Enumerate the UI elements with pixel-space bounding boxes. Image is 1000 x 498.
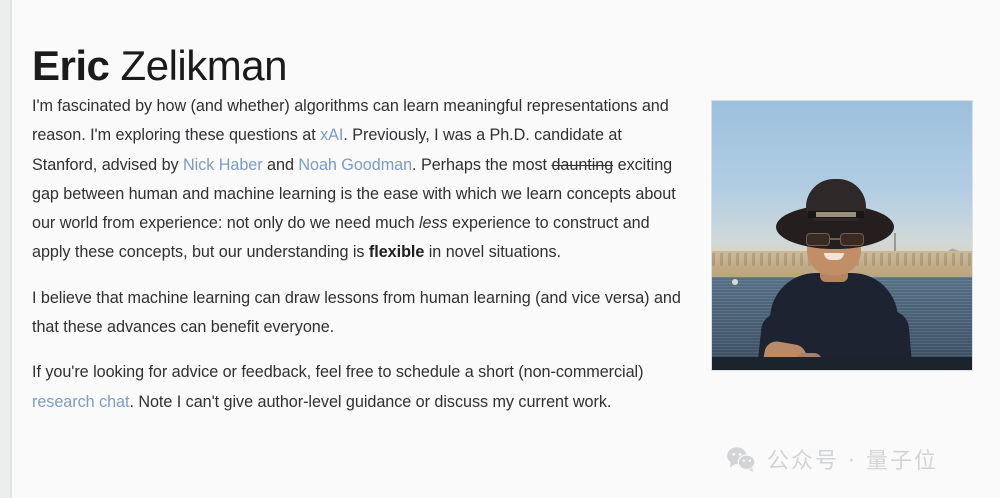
link-xai[interactable]: xAI bbox=[320, 126, 343, 144]
bio-paragraph-1: I'm fascinated by how (and whether) algo… bbox=[32, 92, 687, 268]
person-sunglasses bbox=[806, 233, 864, 246]
p2-text-1: I believe that machine learning can draw… bbox=[32, 289, 681, 336]
watermark-text: 公众号 · 量子位 bbox=[767, 443, 938, 475]
bio-paragraph-3: If you're looking for advice or feedback… bbox=[32, 358, 687, 417]
profile-photo bbox=[712, 101, 972, 370]
page-left-edge bbox=[10, 0, 12, 498]
sunglasses-bridge bbox=[830, 238, 840, 240]
photo-person bbox=[712, 101, 972, 370]
p1-text-4: . Perhaps the most bbox=[412, 156, 551, 174]
page-title-first-name: Eric bbox=[32, 42, 109, 89]
profile-photo-image bbox=[712, 101, 972, 370]
p1-italic-less: less bbox=[419, 214, 448, 232]
wechat-icon bbox=[726, 446, 756, 472]
bio-content: I'm fascinated by how (and whether) algo… bbox=[32, 92, 687, 417]
page-title-last-name: Zelikman bbox=[109, 42, 287, 89]
page-title: Eric Zelikman bbox=[32, 42, 287, 90]
watermark: 公众号 · 量子位 bbox=[726, 443, 938, 475]
link-research-chat[interactable]: research chat bbox=[32, 393, 129, 411]
sunglasses-right-lens bbox=[840, 233, 864, 246]
bio-paragraph-2: I believe that machine learning can draw… bbox=[32, 284, 687, 343]
p1-bold-flexible: flexible bbox=[369, 243, 424, 261]
p1-text-3: and bbox=[263, 156, 299, 174]
link-noah-goodman[interactable]: Noah Goodman bbox=[298, 156, 412, 174]
p1-text-7: in novel situations. bbox=[424, 243, 561, 261]
photo-foreground-rail bbox=[712, 357, 972, 370]
p3-text-1: If you're looking for advice or feedback… bbox=[32, 363, 643, 381]
link-nick-haber[interactable]: Nick Haber bbox=[183, 156, 263, 174]
person-hat-studs bbox=[816, 212, 856, 217]
page-sheet: Eric Zelikman I'm fascinated by how (and… bbox=[10, 0, 1000, 498]
p3-text-2: . Note I can't give author-level guidanc… bbox=[129, 393, 611, 411]
p1-strikethrough-daunting: daunting bbox=[551, 156, 613, 174]
sunglasses-left-lens bbox=[806, 233, 830, 246]
